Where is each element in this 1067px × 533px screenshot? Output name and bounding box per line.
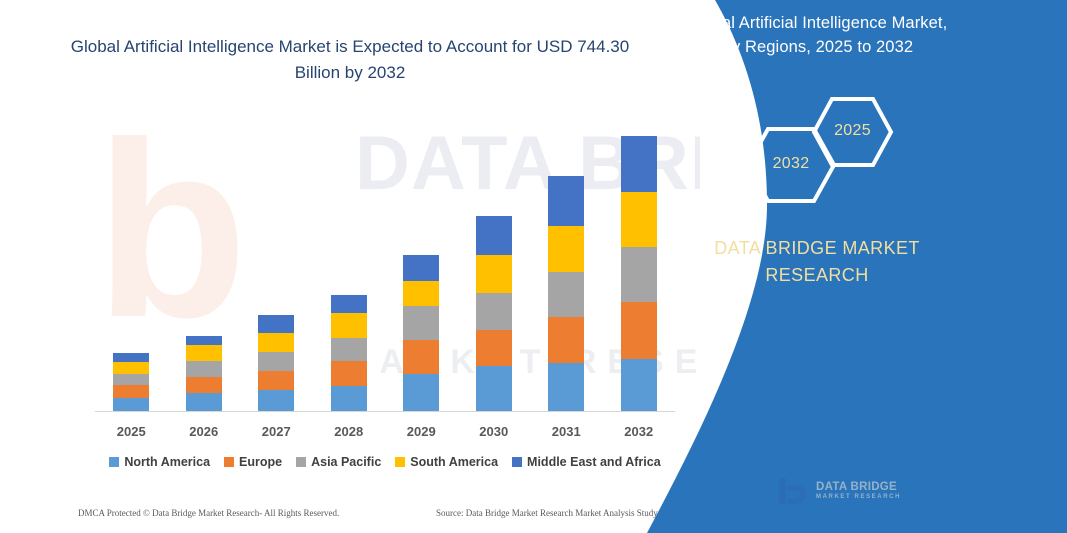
- bar-segment[interactable]: [476, 330, 512, 365]
- bar-segment[interactable]: [258, 352, 294, 371]
- bar-segment[interactable]: [476, 255, 512, 293]
- panel-logo-line2: MARKET RESEARCH: [816, 494, 901, 501]
- legend-label: South America: [410, 455, 498, 469]
- panel-logo-text: DATA BRIDGE MARKET RESEARCH: [816, 481, 901, 500]
- panel-title: Global Artificial Intelligence Market, B…: [677, 12, 957, 60]
- x-label-2027: 2027: [246, 424, 306, 439]
- x-axis-line: [95, 411, 675, 412]
- panel-brand-name: DATA BRIDGE MARKET RESEARCH: [677, 235, 957, 289]
- panel-logo-watermark: DATA BRIDGE MARKET RESEARCH: [779, 470, 969, 512]
- legend-label: North America: [124, 455, 210, 469]
- bar-segment[interactable]: [258, 390, 294, 412]
- bar-2027[interactable]: [258, 315, 294, 412]
- bar-segment[interactable]: [186, 345, 222, 361]
- legend-swatch-icon: [109, 457, 119, 467]
- x-label-2028: 2028: [319, 424, 379, 439]
- chart-legend: North AmericaEuropeAsia PacificSouth Ame…: [95, 455, 675, 469]
- hexagon-2025: 2025: [810, 95, 895, 169]
- legend-item-europe[interactable]: Europe: [224, 455, 282, 469]
- bar-segment[interactable]: [113, 398, 149, 412]
- chart-area: b DATA BRIDGE MARKET RESEARCH Global Art…: [0, 0, 700, 533]
- legend-item-north-america[interactable]: North America: [109, 455, 210, 469]
- infographic-page: b DATA BRIDGE MARKET RESEARCH Global Art…: [0, 0, 1067, 533]
- footer-copyright: DMCA Protected © Data Bridge Market Rese…: [78, 508, 339, 518]
- bar-2025[interactable]: [113, 353, 149, 412]
- bar-segment[interactable]: [186, 361, 222, 377]
- hexagon-2025-label: 2025: [810, 122, 895, 140]
- bar-segment[interactable]: [258, 315, 294, 332]
- bar-segment[interactable]: [331, 338, 367, 361]
- bar-segment[interactable]: [331, 313, 367, 337]
- legend-item-asia-pacific[interactable]: Asia Pacific: [296, 455, 381, 469]
- bar-segment[interactable]: [186, 377, 222, 393]
- x-label-2029: 2029: [391, 424, 451, 439]
- legend-swatch-icon: [512, 457, 522, 467]
- bar-2030[interactable]: [476, 216, 512, 412]
- bar-segment[interactable]: [548, 272, 584, 317]
- x-axis-labels: 20252026202720282029203020312032: [95, 424, 675, 444]
- brand-panel-content: Global Artificial Intelligence Market, B…: [647, 0, 1067, 533]
- bar-segment[interactable]: [476, 216, 512, 255]
- data-bridge-logo-icon: [779, 476, 809, 506]
- bar-segment[interactable]: [403, 340, 439, 374]
- bar-segment[interactable]: [186, 336, 222, 345]
- bar-segment[interactable]: [113, 362, 149, 374]
- bar-2031[interactable]: [548, 176, 584, 412]
- bar-segment[interactable]: [113, 385, 149, 398]
- bar-segment[interactable]: [113, 353, 149, 362]
- legend-swatch-icon: [296, 457, 306, 467]
- bar-segment[interactable]: [331, 295, 367, 313]
- bar-2026[interactable]: [186, 336, 222, 413]
- bar-segment[interactable]: [403, 374, 439, 412]
- bar-segment[interactable]: [403, 281, 439, 306]
- panel-logo-line1: DATA BRIDGE: [816, 481, 901, 494]
- legend-label: Asia Pacific: [311, 455, 381, 469]
- x-label-2031: 2031: [536, 424, 596, 439]
- bar-segment[interactable]: [403, 306, 439, 339]
- bar-segment[interactable]: [548, 317, 584, 362]
- x-label-2025: 2025: [101, 424, 161, 439]
- x-label-2026: 2026: [174, 424, 234, 439]
- x-label-2030: 2030: [464, 424, 524, 439]
- hexagon-pair: 2032 2025: [677, 95, 957, 205]
- bar-segment[interactable]: [258, 371, 294, 390]
- bar-segment[interactable]: [113, 374, 149, 385]
- brand-panel: Global Artificial Intelligence Market, B…: [647, 0, 1067, 533]
- legend-item-middle-east-and-africa[interactable]: Middle East and Africa: [512, 455, 661, 469]
- legend-item-south-america[interactable]: South America: [395, 455, 498, 469]
- stacked-bar-plot: [95, 110, 675, 412]
- footer-source: Source: Data Bridge Market Research Mark…: [436, 508, 678, 518]
- bar-segment[interactable]: [186, 393, 222, 412]
- legend-swatch-icon: [395, 457, 405, 467]
- bar-segment[interactable]: [476, 293, 512, 330]
- legend-label: Middle East and Africa: [527, 455, 661, 469]
- bar-2029[interactable]: [403, 255, 439, 412]
- bar-segment[interactable]: [548, 363, 584, 412]
- bar-segment[interactable]: [258, 333, 294, 352]
- bar-segment[interactable]: [403, 255, 439, 281]
- bar-segment[interactable]: [548, 176, 584, 225]
- chart-title: Global Artificial Intelligence Market is…: [60, 34, 640, 85]
- bar-segment[interactable]: [476, 366, 512, 412]
- bar-2028[interactable]: [331, 295, 367, 412]
- legend-swatch-icon: [224, 457, 234, 467]
- bar-segment[interactable]: [548, 226, 584, 272]
- footer: DMCA Protected © Data Bridge Market Rese…: [78, 508, 678, 518]
- legend-label: Europe: [239, 455, 282, 469]
- bar-segment[interactable]: [331, 386, 367, 412]
- bar-segment[interactable]: [331, 361, 367, 386]
